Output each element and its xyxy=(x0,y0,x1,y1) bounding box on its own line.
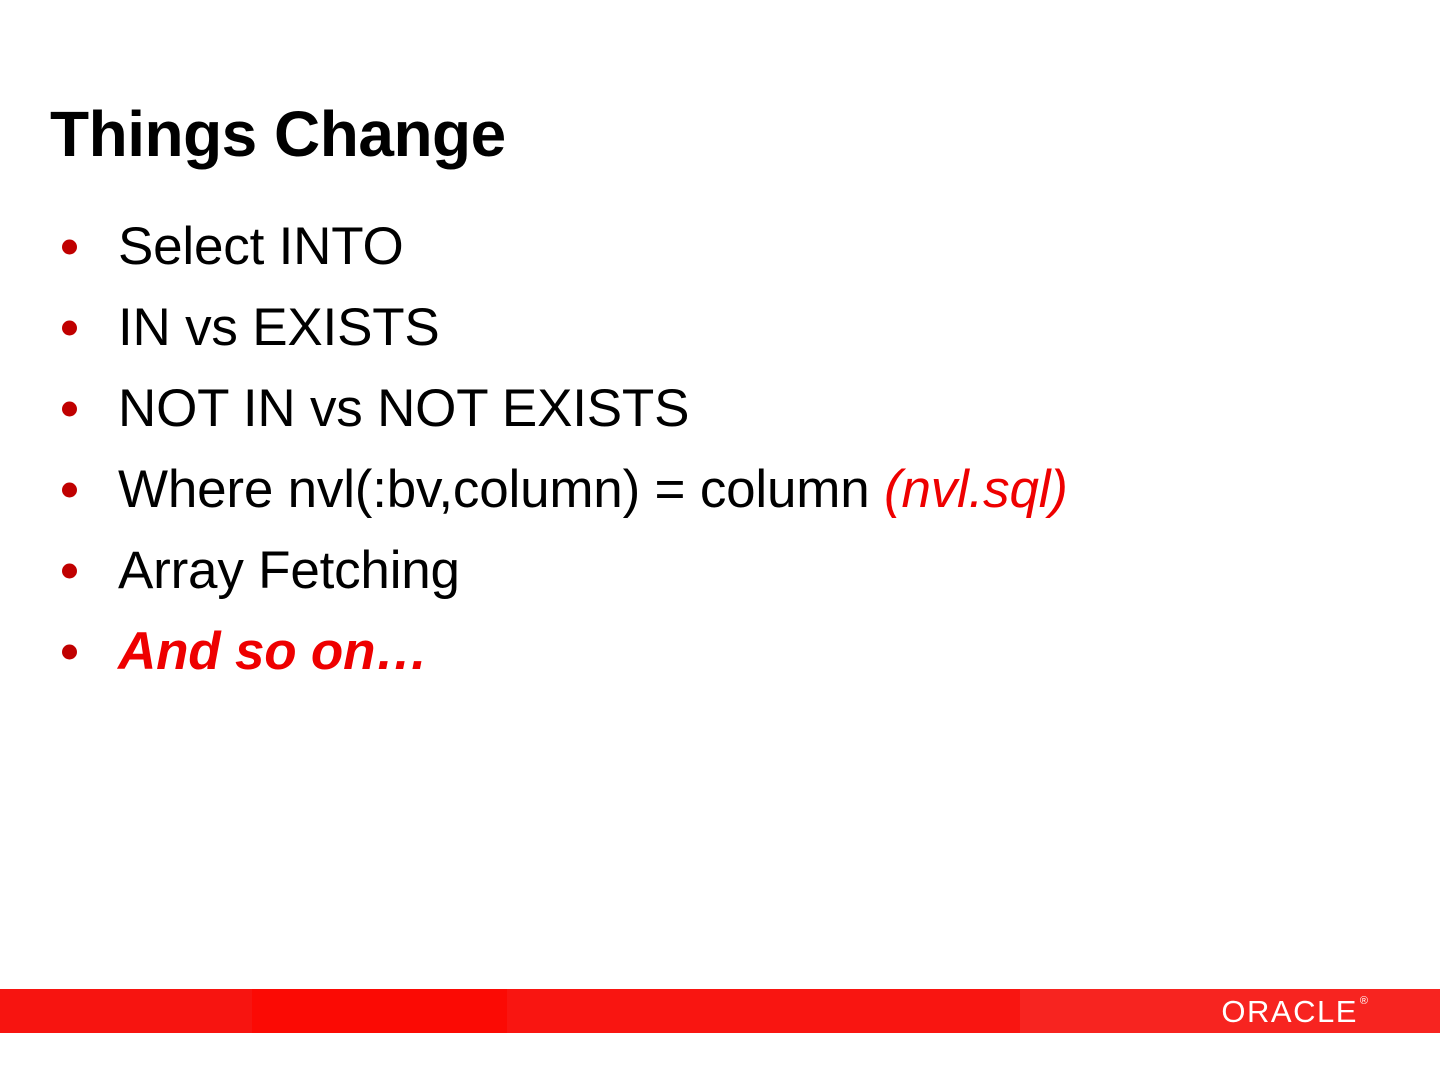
bullet-list: Select INTO IN vs EXISTS NOT IN vs NOT E… xyxy=(54,206,1394,692)
footer-bar-segment-1 xyxy=(0,989,252,1033)
page-title: Things Change xyxy=(50,101,506,168)
list-item: IN vs EXISTS xyxy=(54,287,1394,368)
list-item: NOT IN vs NOT EXISTS xyxy=(54,368,1394,449)
bullet-text: Select INTO xyxy=(118,220,403,273)
slide-canvas: Things Change Select INTO IN vs EXISTS N… xyxy=(0,0,1440,1080)
bullet-note-script-ref: (nvl.sql) xyxy=(884,460,1068,519)
oracle-logo: ORACLE ® xyxy=(1221,994,1368,1028)
bullet-text: IN vs EXISTS xyxy=(118,301,440,354)
list-item: And so on… xyxy=(54,611,1394,692)
bullet-dot-icon xyxy=(62,563,77,578)
oracle-wordmark: ORACLE xyxy=(1221,996,1357,1027)
bullet-dot-icon xyxy=(62,482,77,497)
footer-bar-segment-3 xyxy=(507,989,1020,1033)
list-item: Where nvl(:bv,column) = column (nvl.sql) xyxy=(54,449,1394,530)
bullet-text: Where nvl(:bv,column) = column (nvl.sql) xyxy=(118,463,1068,516)
list-item: Array Fetching xyxy=(54,530,1394,611)
bullet-text-main: Where nvl(:bv,column) = column xyxy=(118,460,884,519)
bullet-dot-icon xyxy=(62,320,77,335)
bullet-text-emphasis: And so on… xyxy=(118,625,428,678)
bullet-text: NOT IN vs NOT EXISTS xyxy=(118,382,689,435)
bullet-dot-icon xyxy=(62,644,77,659)
registered-trademark-icon: ® xyxy=(1360,996,1368,1007)
bullet-dot-icon xyxy=(62,401,77,416)
bullet-text: Array Fetching xyxy=(118,544,460,597)
bullet-dot-icon xyxy=(62,239,77,254)
footer-bar-segment-2 xyxy=(252,989,507,1033)
list-item: Select INTO xyxy=(54,206,1394,287)
